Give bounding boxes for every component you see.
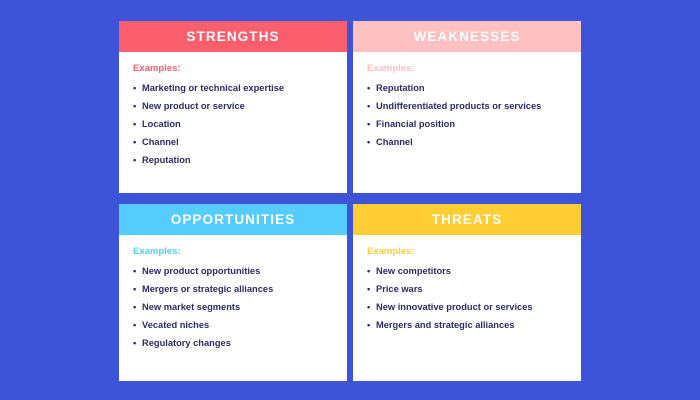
list-item: New competitors <box>367 266 567 277</box>
list-item: Marketing or technical expertise <box>133 83 333 94</box>
bullet-list-strengths: Marketing or technical expertise New pro… <box>133 83 333 167</box>
list-item: New market segments <box>133 302 333 313</box>
quadrant-body-opportunities: Examples: New product opportunities Merg… <box>119 235 347 381</box>
quadrant-header-strengths: STRENGTHS <box>119 21 347 52</box>
examples-label-strengths: Examples: <box>133 64 333 74</box>
bullet-list-threats: New competitors Price wars New innovativ… <box>367 266 567 332</box>
swot-quadrant-opportunities: OPPORTUNITIES Examples: New product oppo… <box>119 204 347 381</box>
bullet-list-weaknesses: Reputation Undifferentiated products or … <box>367 83 567 149</box>
list-item: New innovative product or services <box>367 302 567 313</box>
quadrant-title-weaknesses: WEAKNESSES <box>413 30 520 44</box>
quadrant-header-weaknesses: WEAKNESSES <box>353 21 581 52</box>
list-item: Price wars <box>367 284 567 295</box>
list-item: Reputation <box>133 155 333 166</box>
quadrant-body-weaknesses: Examples: Reputation Undifferentiated pr… <box>353 52 581 193</box>
bullet-list-opportunities: New product opportunities Mergers or str… <box>133 266 333 350</box>
swot-matrix: STRENGTHS Examples: Marketing or technic… <box>119 21 581 381</box>
list-item: Channel <box>133 137 333 148</box>
list-item: Undifferentiated products or services <box>367 101 567 112</box>
list-item: Mergers or strategic alliances <box>133 284 333 295</box>
list-item: Vecated niches <box>133 320 333 331</box>
list-item: New product opportunities <box>133 266 333 277</box>
swot-quadrant-weaknesses: WEAKNESSES Examples: Reputation Undiffer… <box>353 21 581 193</box>
swot-quadrant-strengths: STRENGTHS Examples: Marketing or technic… <box>119 21 347 193</box>
list-item: New product or service <box>133 101 333 112</box>
list-item: Financial position <box>367 119 567 130</box>
swot-quadrant-threats: THREATS Examples: New competitors Price … <box>353 204 581 381</box>
examples-label-weaknesses: Examples: <box>367 64 567 74</box>
quadrant-header-threats: THREATS <box>353 204 581 235</box>
examples-label-threats: Examples: <box>367 247 567 257</box>
quadrant-title-strengths: STRENGTHS <box>186 30 279 44</box>
quadrant-title-opportunities: OPPORTUNITIES <box>171 213 296 227</box>
list-item: Mergers and strategic alliances <box>367 320 567 331</box>
examples-label-opportunities: Examples: <box>133 247 333 257</box>
quadrant-title-threats: THREATS <box>432 213 502 227</box>
list-item: Location <box>133 119 333 130</box>
list-item: Reputation <box>367 83 567 94</box>
quadrant-body-threats: Examples: New competitors Price wars New… <box>353 235 581 381</box>
quadrant-header-opportunities: OPPORTUNITIES <box>119 204 347 235</box>
list-item: Regulatory changes <box>133 338 333 349</box>
quadrant-body-strengths: Examples: Marketing or technical experti… <box>119 52 347 193</box>
list-item: Channel <box>367 137 567 148</box>
